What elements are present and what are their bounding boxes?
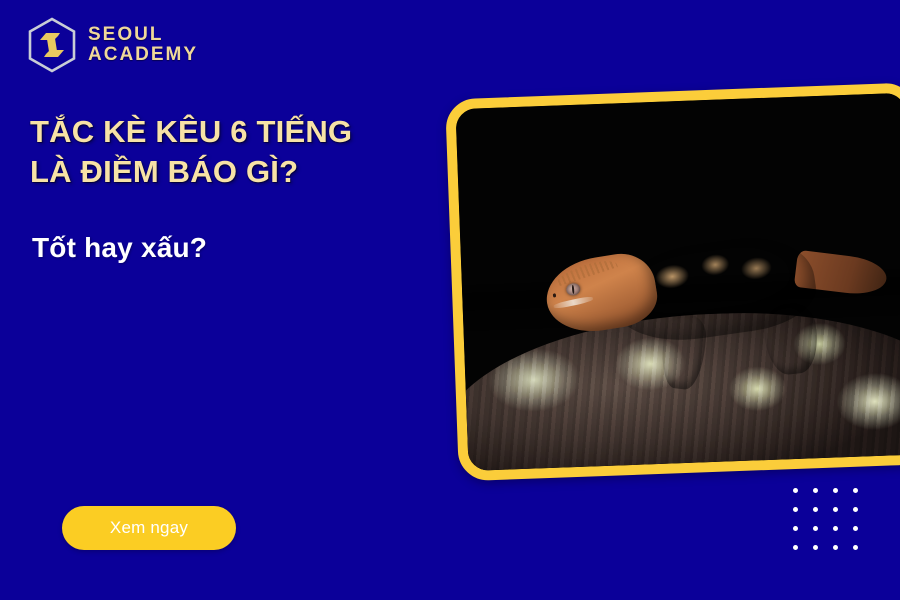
gecko-subject (541, 221, 871, 399)
gecko-photo (455, 93, 900, 471)
dot (853, 507, 858, 512)
gecko-nostril (553, 294, 557, 298)
gecko-lip (553, 296, 593, 310)
cta-button-label: Xem ngay (110, 518, 188, 538)
dot (793, 488, 798, 493)
headline: TẮC KÈ KÊU 6 TIẾNG LÀ ĐIỀM BÁO GÌ? (30, 112, 450, 193)
gecko-hind-leg (762, 301, 821, 376)
hexagon-s-monogram-icon (26, 16, 78, 74)
gecko-crest (554, 256, 618, 287)
dot (833, 545, 838, 550)
dot (793, 507, 798, 512)
dot (813, 526, 818, 531)
brand-logo[interactable]: SEOUL ACADEMY (26, 16, 198, 74)
dot (813, 507, 818, 512)
gecko-eye (566, 283, 582, 298)
dot (813, 545, 818, 550)
hero-image-frame (445, 82, 900, 481)
banner-canvas: SEOUL ACADEMY TẮC KÈ KÊU 6 TIẾNG LÀ ĐIỀM… (0, 0, 900, 600)
dot (853, 545, 858, 550)
dot (833, 488, 838, 493)
dot (853, 488, 858, 493)
dot (833, 507, 838, 512)
dot-grid-decoration (793, 488, 873, 564)
dot (793, 545, 798, 550)
brand-name-line-2: ACADEMY (88, 45, 198, 65)
dot (833, 526, 838, 531)
brand-name-line-1: SEOUL (88, 25, 198, 45)
headline-line-1: TẮC KÈ KÊU 6 TIẾNG (30, 112, 450, 152)
dot (813, 488, 818, 493)
dot (793, 526, 798, 531)
headline-line-2: LÀ ĐIỀM BÁO GÌ? (30, 152, 450, 192)
photo-border (445, 82, 900, 481)
dot (853, 526, 858, 531)
brand-wordmark: SEOUL ACADEMY (88, 25, 198, 65)
subheadline: Tốt hay xấu? (32, 232, 207, 264)
cta-button[interactable]: Xem ngay (62, 506, 236, 550)
gecko-pupil (572, 285, 575, 294)
